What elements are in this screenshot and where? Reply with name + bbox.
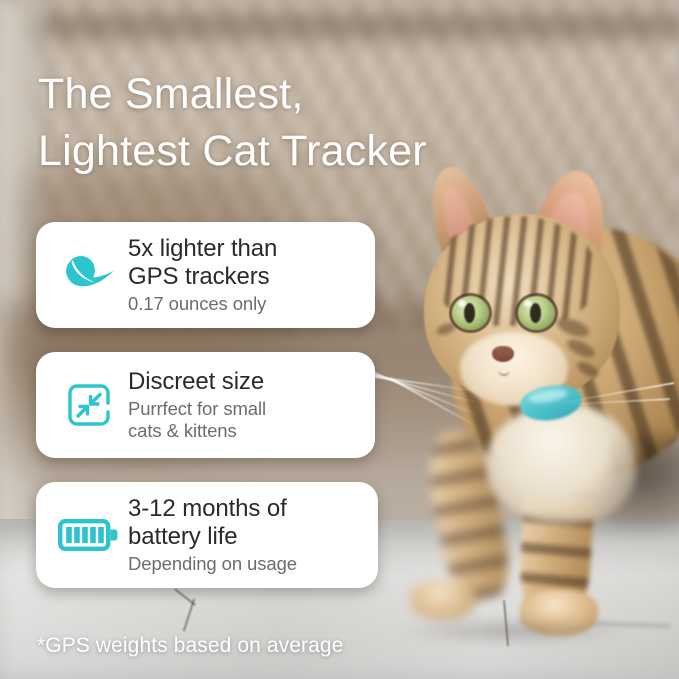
cat-chest-fur bbox=[486, 404, 636, 524]
battery-full-icon bbox=[54, 516, 124, 554]
feature-title: Discreet size bbox=[128, 368, 359, 396]
shrink-arrows-icon bbox=[54, 378, 124, 432]
cat-nose bbox=[492, 346, 514, 362]
feature-card-weight: 5x lighter than GPS trackers 0.17 ounces… bbox=[36, 222, 375, 328]
cat-paw-shadow bbox=[402, 618, 622, 644]
backdrop-dark-band bbox=[0, 6, 679, 46]
cat-right-pupil bbox=[530, 303, 541, 323]
feature-card-size: Discreet size Purrfect for small cats & … bbox=[36, 352, 375, 458]
feature-card-battery: 3-12 months of battery life Depending on… bbox=[36, 482, 378, 588]
cat-far-paw bbox=[410, 580, 476, 620]
cat-right-eye-glint bbox=[524, 300, 532, 307]
feature-subtitle: 0.17 ounces only bbox=[128, 293, 359, 315]
feature-card-text: 3-12 months of battery life Depending on… bbox=[124, 495, 362, 576]
cat-left-pupil bbox=[464, 303, 475, 323]
feature-card-text: 5x lighter than GPS trackers 0.17 ounces… bbox=[124, 235, 359, 316]
feature-subtitle: Purrfect for small cats & kittens bbox=[128, 398, 359, 442]
feature-title: 3-12 months of battery life bbox=[128, 495, 362, 552]
feature-card-text: Discreet size Purrfect for small cats & … bbox=[124, 368, 359, 443]
feather-icon bbox=[54, 251, 124, 299]
cat-mouth bbox=[498, 364, 510, 376]
promo-image: The Smallest, Lightest Cat Tracker 5x li… bbox=[0, 0, 679, 679]
feature-subtitle: Depending on usage bbox=[128, 553, 362, 575]
page-title: The Smallest, Lightest Cat Tracker bbox=[38, 66, 598, 180]
footnote-disclaimer: *GPS weights based on average bbox=[37, 634, 343, 658]
cat-left-eye-glint bbox=[458, 300, 466, 307]
feature-title: 5x lighter than GPS trackers bbox=[128, 235, 359, 292]
feature-card-list: 5x lighter than GPS trackers 0.17 ounces… bbox=[36, 222, 378, 588]
